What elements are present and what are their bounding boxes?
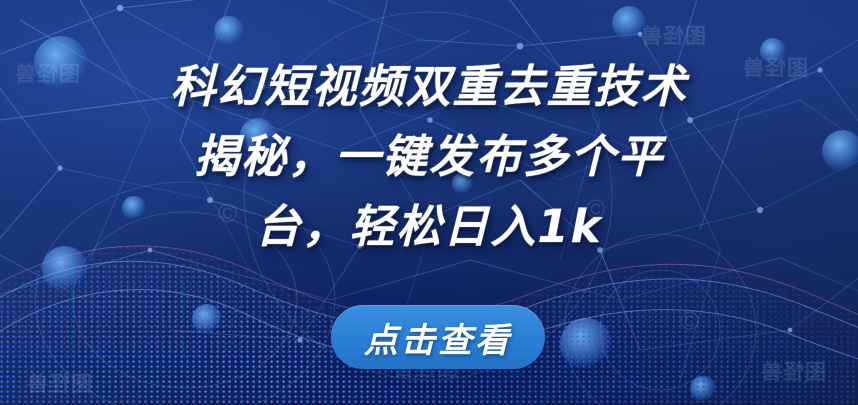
watermark-brand: 图怪兽	[640, 20, 706, 50]
headline-line-3: 台，轻松日入1k	[0, 192, 858, 262]
headline-block: 科幻短视频双重去重技术 揭秘，一键发布多个平 台，轻松日入1k	[0, 52, 858, 262]
promo-banner: 图怪兽 图怪兽 图怪兽 图怪兽 图怪兽 图怪兽 © © © 科幻短视频双重去重技…	[0, 0, 858, 405]
click-to-view-button[interactable]: 点击查看	[331, 305, 545, 369]
watermark-brand: 图怪兽	[26, 368, 92, 398]
headline-line-1: 科幻短视频双重去重技术	[0, 52, 858, 122]
click-to-view-button-label: 点击查看	[364, 313, 512, 362]
watermark-brand: 图怪兽	[760, 356, 826, 386]
headline-line-2: 揭秘，一键发布多个平	[0, 122, 858, 192]
copyright-icon: ©	[680, 306, 699, 337]
